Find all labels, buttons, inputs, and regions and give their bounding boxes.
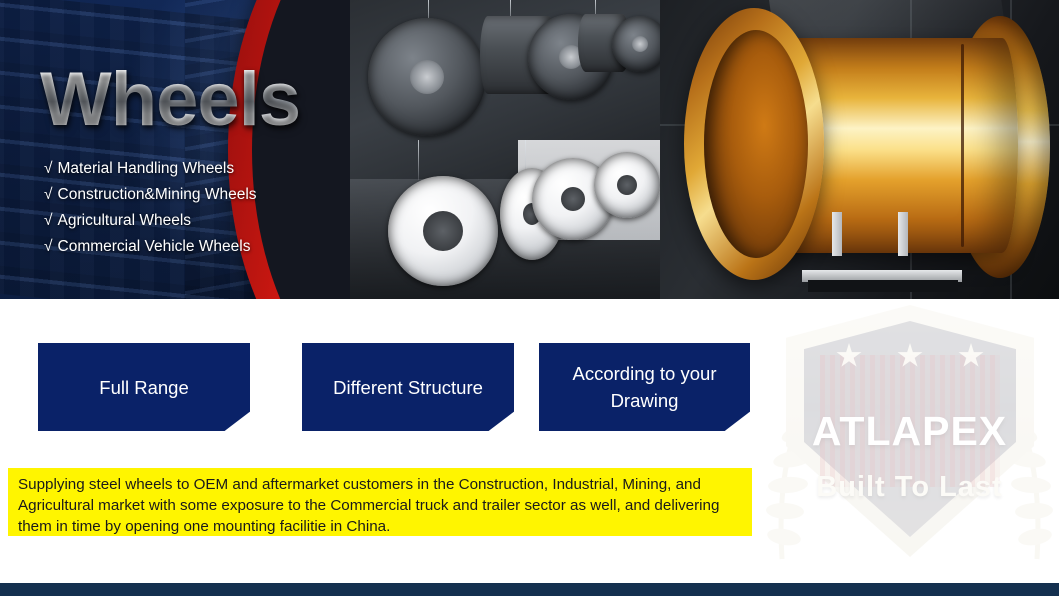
- corner-fold-icon: [730, 413, 750, 431]
- page-title: Wheels: [40, 62, 300, 138]
- corner-fold-icon: [230, 413, 250, 431]
- wheel-hub: [561, 187, 585, 211]
- bullet-item: √Material Handling Wheels: [44, 156, 364, 182]
- bullet-label: Commercial Vehicle Wheels: [58, 238, 251, 255]
- feature-bullet-list: √Material Handling Wheels √Construction&…: [44, 156, 364, 260]
- steel-wheel-white: [388, 176, 498, 286]
- stand-leg: [832, 212, 842, 256]
- feature-box-label: Full Range: [99, 374, 188, 401]
- wheel-hub: [632, 36, 648, 52]
- feature-box-label: According to your Drawing: [549, 360, 740, 414]
- steel-wheel-white: [594, 152, 660, 218]
- bullet-item: √Construction&Mining Wheels: [44, 182, 364, 208]
- star-icon: [958, 343, 984, 369]
- steel-wheel-dark: [368, 18, 486, 136]
- wheel-hub: [617, 175, 637, 195]
- corner-fold-inner-icon: [735, 418, 749, 430]
- star-icon: [836, 343, 862, 369]
- highlight-paragraph: Supplying steel wheels to OEM and afterm…: [8, 468, 752, 536]
- brand-tagline: Built To Last: [760, 471, 1059, 504]
- stand-base-shadow: [808, 280, 958, 292]
- bullet-label: Material Handling Wheels: [58, 160, 235, 177]
- bullet-label: Agricultural Wheels: [58, 212, 192, 229]
- check-icon: √: [44, 160, 53, 177]
- content-area: ATLAPEX Built To Last Full Range Differe…: [0, 299, 1059, 583]
- wheel-hub: [423, 211, 463, 251]
- brand-logo-watermark: ATLAPEX Built To Last: [760, 303, 1059, 595]
- wheel-bore: [704, 30, 808, 258]
- wheel-hanger: [418, 140, 419, 180]
- check-icon: √: [44, 238, 53, 255]
- slide-canvas: Wheels √Material Handling Wheels √Constr…: [0, 0, 1059, 596]
- bullet-item: √Agricultural Wheels: [44, 208, 364, 234]
- bullet-item: √Commercial Vehicle Wheels: [44, 234, 364, 260]
- feature-box-full-range[interactable]: Full Range: [38, 343, 250, 431]
- wheel-hanger: [525, 140, 526, 172]
- brand-name: ATLAPEX: [760, 408, 1059, 455]
- star-icon: [897, 343, 923, 369]
- hero-banner: Wheels √Material Handling Wheels √Constr…: [0, 0, 1059, 299]
- corner-fold-inner-icon: [235, 418, 249, 430]
- check-icon: √: [44, 186, 53, 203]
- feature-box-row: Full Range Different Structure According…: [38, 343, 750, 431]
- display-stand: [810, 212, 950, 282]
- wheel-seam: [961, 44, 964, 246]
- star-rating-group: [836, 343, 984, 369]
- wheel-hub: [410, 60, 444, 94]
- feature-box-different-structure[interactable]: Different Structure: [302, 343, 514, 431]
- stand-leg: [898, 212, 908, 256]
- feature-box-according-to-drawing[interactable]: According to your Drawing: [539, 343, 750, 431]
- factory-photo: [350, 0, 710, 299]
- check-icon: √: [44, 212, 53, 229]
- corner-fold-icon: [494, 413, 514, 431]
- feature-box-label: Different Structure: [333, 374, 483, 401]
- corner-fold-inner-icon: [499, 418, 513, 430]
- footer-bar: [0, 583, 1059, 596]
- product-photo: [660, 0, 1059, 299]
- bullet-label: Construction&Mining Wheels: [58, 186, 257, 203]
